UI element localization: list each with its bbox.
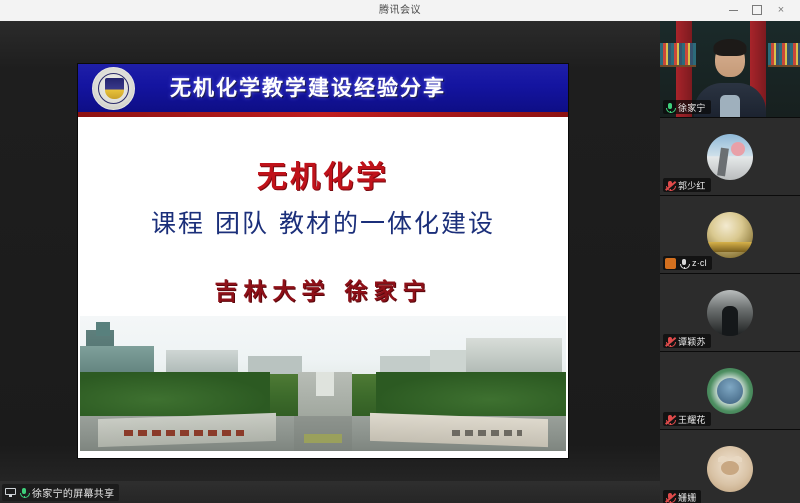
participant-name: 谭颖苏 xyxy=(678,335,706,348)
microphone-icon xyxy=(679,258,689,269)
microphone-on-icon xyxy=(665,102,675,113)
microphone-icon xyxy=(19,487,29,498)
logo-shield xyxy=(105,78,124,99)
photo-monument xyxy=(316,372,334,396)
participant-name: z·cl xyxy=(692,258,707,268)
participant-name-bar: 王耀花 xyxy=(663,412,711,426)
video-bookshelf-left xyxy=(660,43,696,65)
photo-wall-right-lettering xyxy=(452,430,522,436)
participant-avatar xyxy=(707,290,753,336)
participant-tile[interactable]: 徐家宁 xyxy=(660,21,800,118)
window-title: 腾讯会议 xyxy=(0,0,800,21)
shared-screen-stage[interactable]: 无机化学教学建设经验分享 无机化学 课程 团队 教材的一体化建设 吉林大学 徐家… xyxy=(0,21,660,503)
presentation-slide: 无机化学教学建设经验分享 无机化学 课程 团队 教材的一体化建设 吉林大学 徐家… xyxy=(78,64,568,458)
microphone-muted-icon xyxy=(665,414,675,425)
participant-avatar xyxy=(707,134,753,180)
share-status-bar: 徐家宁的屏幕共享 xyxy=(0,481,660,503)
video-person-collar xyxy=(720,95,740,117)
participant-name-bar: 郭少红 xyxy=(663,178,711,192)
participant-rail[interactable]: 徐家宁 郭少红 z·cl xyxy=(660,21,800,503)
screen-share-icon xyxy=(5,488,16,498)
participant-name: 王耀花 xyxy=(678,413,706,426)
video-shelf-right xyxy=(768,65,800,67)
maximize-button[interactable] xyxy=(746,0,768,21)
microphone-muted-icon xyxy=(665,492,675,503)
share-status-pill: 徐家宁的屏幕共享 xyxy=(2,484,119,501)
participant-name-bar: z·cl xyxy=(663,256,712,270)
participant-name: 郭少红 xyxy=(678,179,706,192)
close-button[interactable]: × xyxy=(770,0,792,21)
photo-wall-left-lettering xyxy=(124,430,244,436)
minimize-button[interactable] xyxy=(722,0,744,21)
slide-heading: 无机化学 xyxy=(78,152,568,196)
share-status-text: 徐家宁的屏幕共享 xyxy=(32,485,114,500)
university-logo-icon xyxy=(92,67,135,110)
slide-banner-underline xyxy=(78,112,568,117)
participant-tile[interactable]: 姗姗 xyxy=(660,430,800,503)
participant-name: 徐家宁 xyxy=(678,101,706,114)
participant-avatar xyxy=(707,368,753,414)
photo-trees-left xyxy=(80,372,270,418)
video-shelf-left xyxy=(660,65,696,67)
campus-photo xyxy=(80,316,566,451)
participant-badge-icon xyxy=(665,258,676,269)
microphone-muted-icon xyxy=(665,336,675,347)
participant-name-bar: 谭颖苏 xyxy=(663,334,711,348)
tencent-meeting-window: 腾讯会议 × 无机化学教学建设经验分享 无机化学 课程 团队 教材的一体化建设 … xyxy=(0,0,800,503)
participant-name: 姗姗 xyxy=(678,491,696,503)
participant-name-bar: 徐家宁 xyxy=(663,100,711,114)
photo-center-lawn xyxy=(304,434,342,443)
slide-author-line: 吉林大学 徐家宁 xyxy=(78,272,568,306)
photo-building-left-top xyxy=(96,322,110,336)
participant-avatar xyxy=(707,212,753,258)
slide-subheading: 课程 团队 教材的一体化建设 xyxy=(78,204,568,240)
photo-trees-right xyxy=(376,372,566,418)
title-bar: 腾讯会议 × xyxy=(0,0,800,21)
participant-name-bar: 姗姗 xyxy=(663,490,701,503)
participant-tile[interactable]: 郭少红 xyxy=(660,118,800,196)
participant-tile[interactable]: z·cl xyxy=(660,196,800,274)
video-person-hair xyxy=(714,39,747,56)
video-bookshelf-right xyxy=(768,43,800,65)
participant-tile[interactable]: 王耀花 xyxy=(660,352,800,430)
participant-tile[interactable]: 谭颖苏 xyxy=(660,274,800,352)
microphone-muted-icon xyxy=(665,180,675,191)
slide-banner-title: 无机化学教学建设经验分享 xyxy=(170,64,560,112)
participant-avatar xyxy=(707,446,753,492)
